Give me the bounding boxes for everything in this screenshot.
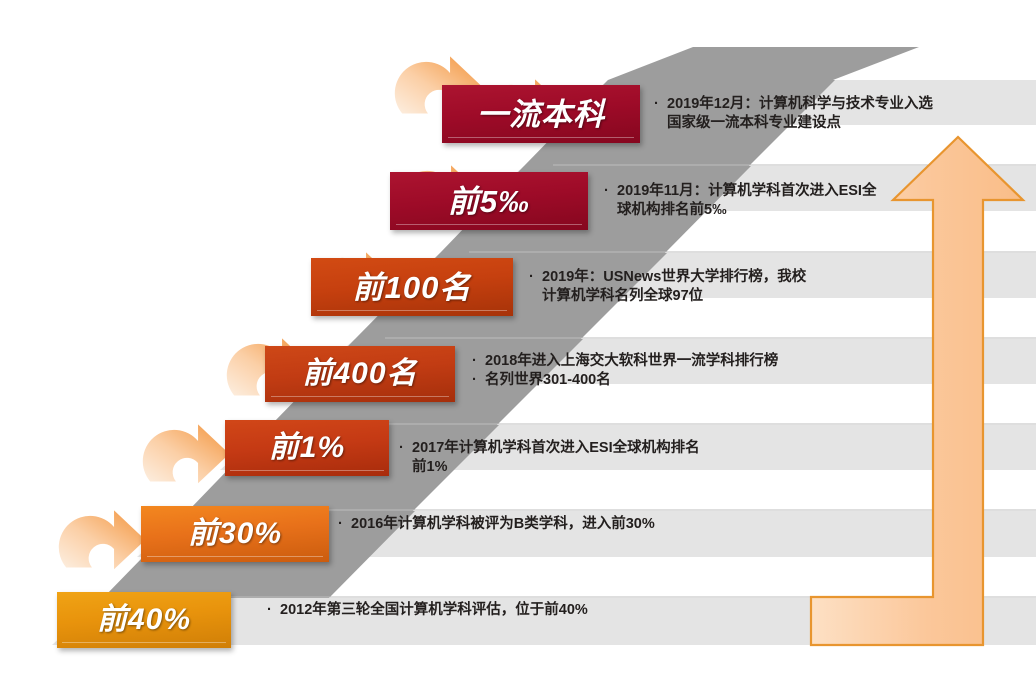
step-chip-label: 前400名: [302, 359, 417, 389]
step-chip-2019-11[interactable]: 前5‰: [390, 172, 588, 230]
desc-line: 国家级一流本科专业建设点: [655, 114, 933, 133]
turn-arrow-icon: [59, 510, 146, 569]
desc-line: 2018年进入上海交大软科世界一流学科排行榜: [473, 352, 778, 371]
step-desc-2019-12: 2019年12月：计算机科学与技术专业入选 国家级一流本科专业建设点: [655, 95, 933, 133]
desc-line: 2017年计算机学科首次进入ESI全球机构排名: [400, 439, 700, 458]
desc-line: 计算机学科名列全球97位: [530, 287, 806, 306]
step-chip-2019-12[interactable]: 一流本科: [442, 85, 640, 143]
step-chip-2017[interactable]: 前1%: [225, 420, 389, 476]
step-chip-label: 前5‰: [448, 186, 530, 217]
step-desc-2019-11: 2019年11月：计算机学科首次进入ESI全 球机构排名前5‰: [605, 182, 876, 220]
desc-line: 2019年11月：计算机学科首次进入ESI全: [605, 182, 876, 201]
desc-line: 名列世界301-400名: [473, 371, 778, 390]
desc-line: 前1%: [400, 458, 700, 477]
step-chip-label: 前30%: [188, 519, 282, 549]
step-desc-2017: 2017年计算机学科首次进入ESI全球机构排名 前1%: [400, 439, 700, 477]
step-desc-2018: 2018年进入上海交大软科世界一流学科排行榜 名列世界301-400名: [473, 352, 778, 390]
step-chip-label: 前40%: [97, 605, 191, 635]
step-desc-2019-usnews: 2019年：USNews世界大学排行榜，我校 计算机学科名列全球97位: [530, 268, 806, 306]
step-chip-2012[interactable]: 前40%: [57, 592, 231, 648]
turn-arrow-icon: [143, 424, 230, 483]
step-desc-2016: 2016年计算机学科被评为B类学科，进入前30%: [339, 515, 655, 534]
step-chip-label: 一流本科: [477, 99, 605, 130]
step-chip-label: 前1%: [269, 433, 345, 463]
step-chip-label: 前100名: [353, 272, 472, 303]
figure-canvas: 前40% 2012年第三轮全国计算机学科评估，位于前40% 前30% 2016年…: [0, 0, 1036, 687]
desc-line: 2019年12月：计算机科学与技术专业入选: [655, 95, 933, 114]
step-chip-2019-usnews[interactable]: 前100名: [311, 258, 513, 316]
step-chip-2016[interactable]: 前30%: [141, 506, 329, 562]
desc-line: 2012年第三轮全国计算机学科评估，位于前40%: [268, 601, 588, 620]
desc-line: 球机构排名前5‰: [605, 201, 876, 220]
desc-line: 2016年计算机学科被评为B类学科，进入前30%: [339, 515, 655, 534]
desc-line: 2019年：USNews世界大学排行榜，我校: [530, 268, 806, 287]
step-chip-2018[interactable]: 前400名: [265, 346, 455, 402]
step-desc-2012: 2012年第三轮全国计算机学科评估，位于前40%: [268, 601, 588, 620]
